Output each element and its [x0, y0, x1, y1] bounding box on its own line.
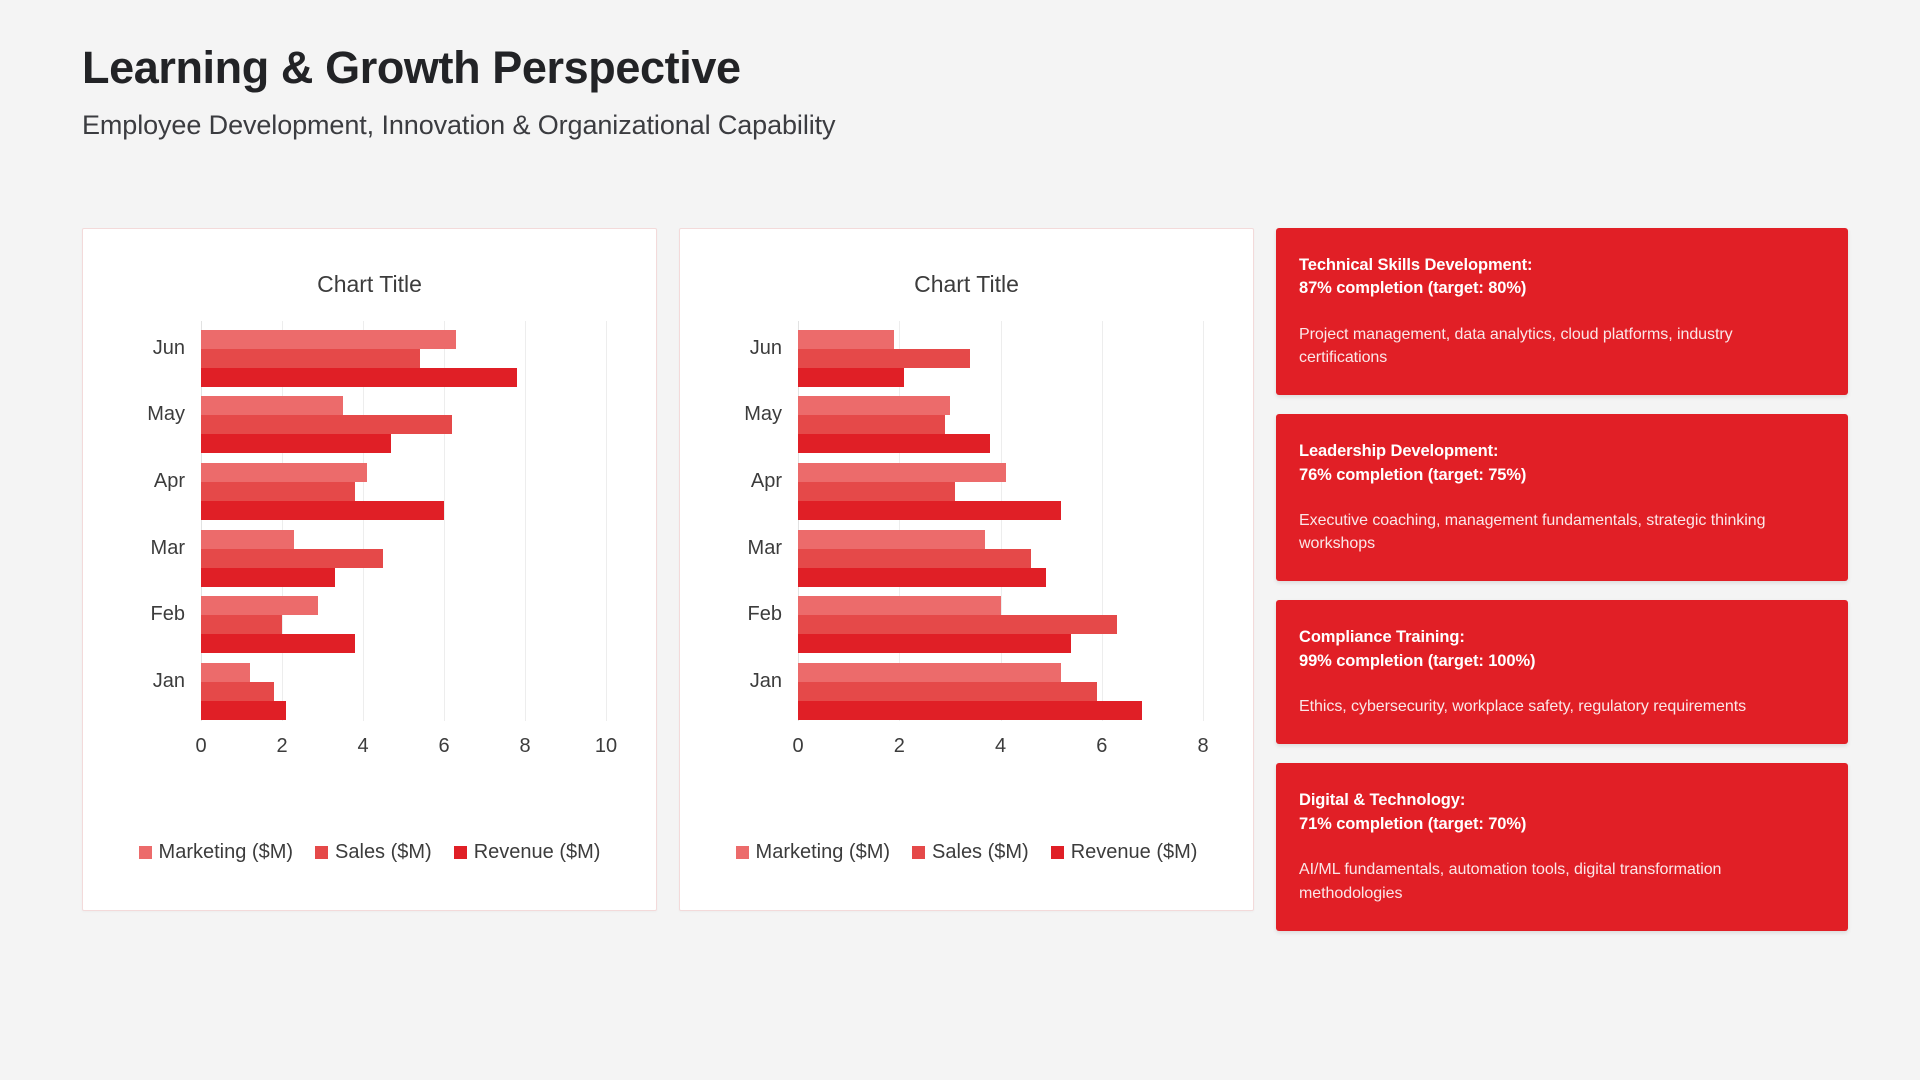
gridline: [606, 321, 607, 721]
category-label: Jan: [750, 671, 798, 691]
bar-revenue: [798, 634, 1071, 653]
x-tick-label: 8: [519, 735, 530, 758]
info-card-heading-line2: 76% completion (target: 75%): [1299, 464, 1824, 487]
legend-swatch-icon: [139, 846, 152, 859]
category-label: Feb: [748, 604, 798, 624]
chart-1-legend: Marketing ($M)Sales ($M)Revenue ($M): [83, 841, 656, 864]
x-tick-label: 2: [894, 735, 905, 758]
info-card-heading: Technical Skills Development:87% complet…: [1299, 254, 1824, 301]
info-card-heading-line1: Technical Skills Development:: [1299, 254, 1824, 277]
bar-sales: [201, 415, 452, 434]
info-card-list: Technical Skills Development:87% complet…: [1276, 228, 1848, 931]
bar-revenue: [201, 368, 517, 387]
bar-sales: [798, 682, 1097, 701]
legend-item[interactable]: Marketing ($M): [139, 841, 293, 864]
bar-revenue: [798, 568, 1046, 587]
category-label: Feb: [151, 604, 201, 624]
bar-sales: [201, 615, 282, 634]
legend-item[interactable]: Revenue ($M): [1051, 841, 1198, 864]
bar-marketing: [798, 596, 1001, 615]
x-tick-label: 4: [995, 735, 1006, 758]
bar-group: Jun: [201, 330, 606, 387]
x-tick-label: 0: [792, 735, 803, 758]
bar-marketing: [798, 463, 1006, 482]
bar-group: Jun: [798, 330, 1203, 387]
bar-marketing: [201, 330, 456, 349]
info-card[interactable]: Leadership Development:76% completion (t…: [1276, 414, 1848, 581]
legend-swatch-icon: [1051, 846, 1064, 859]
bar-sales: [798, 349, 970, 368]
category-label: May: [147, 404, 201, 424]
category-label: Jun: [153, 338, 201, 358]
chart-card-1: Chart Title JunMayAprMarFebJan 0246810 M…: [82, 228, 657, 911]
bar-marketing: [798, 396, 950, 415]
gridline: [1203, 321, 1204, 721]
bar-revenue: [798, 701, 1142, 720]
bar-sales: [798, 615, 1117, 634]
info-card-heading-line1: Leadership Development:: [1299, 440, 1824, 463]
x-tick-label: 0: [195, 735, 206, 758]
bar-revenue: [201, 568, 335, 587]
legend-item[interactable]: Sales ($M): [912, 841, 1029, 864]
category-label: Apr: [751, 471, 798, 491]
chart-2-legend: Marketing ($M)Sales ($M)Revenue ($M): [680, 841, 1253, 864]
legend-item[interactable]: Marketing ($M): [736, 841, 890, 864]
bar-sales: [201, 349, 420, 368]
slide-root: Learning & Growth Perspective Employee D…: [0, 0, 1920, 1080]
category-label: Mar: [151, 538, 201, 558]
bar-group: Apr: [201, 463, 606, 520]
legend-label: Marketing ($M): [159, 841, 293, 864]
category-label: May: [744, 404, 798, 424]
category-label: Jan: [153, 671, 201, 691]
info-card-heading-line1: Compliance Training:: [1299, 626, 1824, 649]
bar-revenue: [201, 501, 444, 520]
bar-sales: [798, 549, 1031, 568]
chart-2-title: Chart Title: [680, 271, 1253, 298]
legend-swatch-icon: [736, 846, 749, 859]
legend-swatch-icon: [315, 846, 328, 859]
bar-sales: [798, 482, 955, 501]
bar-marketing: [798, 330, 894, 349]
bar-marketing: [798, 663, 1061, 682]
info-card[interactable]: Technical Skills Development:87% complet…: [1276, 228, 1848, 395]
info-card[interactable]: Digital & Technology:71% completion (tar…: [1276, 763, 1848, 930]
category-label: Apr: [154, 471, 201, 491]
chart-2-x-axis: 02468: [798, 721, 1203, 761]
bar-group: Jan: [201, 663, 606, 720]
bar-revenue: [798, 501, 1061, 520]
bar-group: Feb: [798, 596, 1203, 653]
info-card-heading-line2: 87% completion (target: 80%): [1299, 277, 1824, 300]
bar-marketing: [201, 663, 250, 682]
header: Learning & Growth Perspective Employee D…: [82, 42, 835, 141]
bar-group: May: [201, 396, 606, 453]
legend-swatch-icon: [454, 846, 467, 859]
info-card-heading: Digital & Technology:71% completion (tar…: [1299, 789, 1824, 836]
bar-sales: [201, 549, 383, 568]
info-card-body: Project management, data analytics, clou…: [1299, 323, 1824, 369]
chart-1-plot: JunMayAprMarFebJan 0246810: [201, 321, 606, 721]
info-card-heading: Leadership Development:76% completion (t…: [1299, 440, 1824, 487]
legend-label: Marketing ($M): [756, 841, 890, 864]
bar-marketing: [201, 396, 343, 415]
legend-label: Sales ($M): [335, 841, 432, 864]
x-tick-label: 6: [438, 735, 449, 758]
bar-marketing: [201, 596, 318, 615]
x-tick-label: 10: [595, 735, 617, 758]
info-card[interactable]: Compliance Training:99% completion (targ…: [1276, 600, 1848, 744]
category-label: Jun: [750, 338, 798, 358]
legend-label: Revenue ($M): [1071, 841, 1198, 864]
x-tick-label: 4: [357, 735, 368, 758]
page-title: Learning & Growth Perspective: [82, 42, 835, 94]
category-label: Mar: [748, 538, 798, 558]
x-tick-label: 8: [1197, 735, 1208, 758]
content-row: Chart Title JunMayAprMarFebJan 0246810 M…: [82, 228, 1848, 931]
bar-revenue: [798, 368, 904, 387]
legend-label: Sales ($M): [932, 841, 1029, 864]
bar-sales: [798, 415, 945, 434]
bar-group: Feb: [201, 596, 606, 653]
info-card-heading-line2: 99% completion (target: 100%): [1299, 650, 1824, 673]
page-subtitle: Employee Development, Innovation & Organ…: [82, 110, 835, 141]
bar-group: Mar: [201, 530, 606, 587]
info-card-body: Ethics, cybersecurity, workplace safety,…: [1299, 695, 1824, 718]
bar-revenue: [201, 634, 355, 653]
info-card-heading: Compliance Training:99% completion (targ…: [1299, 626, 1824, 673]
x-tick-label: 2: [276, 735, 287, 758]
bar-group: May: [798, 396, 1203, 453]
bar-revenue: [201, 434, 391, 453]
bar-group: Jan: [798, 663, 1203, 720]
info-card-heading-line2: 71% completion (target: 70%): [1299, 813, 1824, 836]
bar-group: Mar: [798, 530, 1203, 587]
bar-sales: [201, 682, 274, 701]
bar-revenue: [201, 701, 286, 720]
bar-group: Apr: [798, 463, 1203, 520]
chart-1-x-axis: 0246810: [201, 721, 606, 761]
bar-revenue: [798, 434, 990, 453]
legend-item[interactable]: Sales ($M): [315, 841, 432, 864]
x-tick-label: 6: [1096, 735, 1107, 758]
bar-sales: [201, 482, 355, 501]
info-card-body: AI/ML fundamentals, automation tools, di…: [1299, 858, 1824, 904]
info-card-heading-line1: Digital & Technology:: [1299, 789, 1824, 812]
chart-1-title: Chart Title: [83, 271, 656, 298]
bar-marketing: [798, 530, 985, 549]
chart-card-2: Chart Title JunMayAprMarFebJan 02468 Mar…: [679, 228, 1254, 911]
legend-label: Revenue ($M): [474, 841, 601, 864]
bar-marketing: [201, 530, 294, 549]
legend-item[interactable]: Revenue ($M): [454, 841, 601, 864]
info-card-body: Executive coaching, management fundament…: [1299, 509, 1824, 555]
bar-marketing: [201, 463, 367, 482]
legend-swatch-icon: [912, 846, 925, 859]
chart-2-plot: JunMayAprMarFebJan 02468: [798, 321, 1203, 721]
